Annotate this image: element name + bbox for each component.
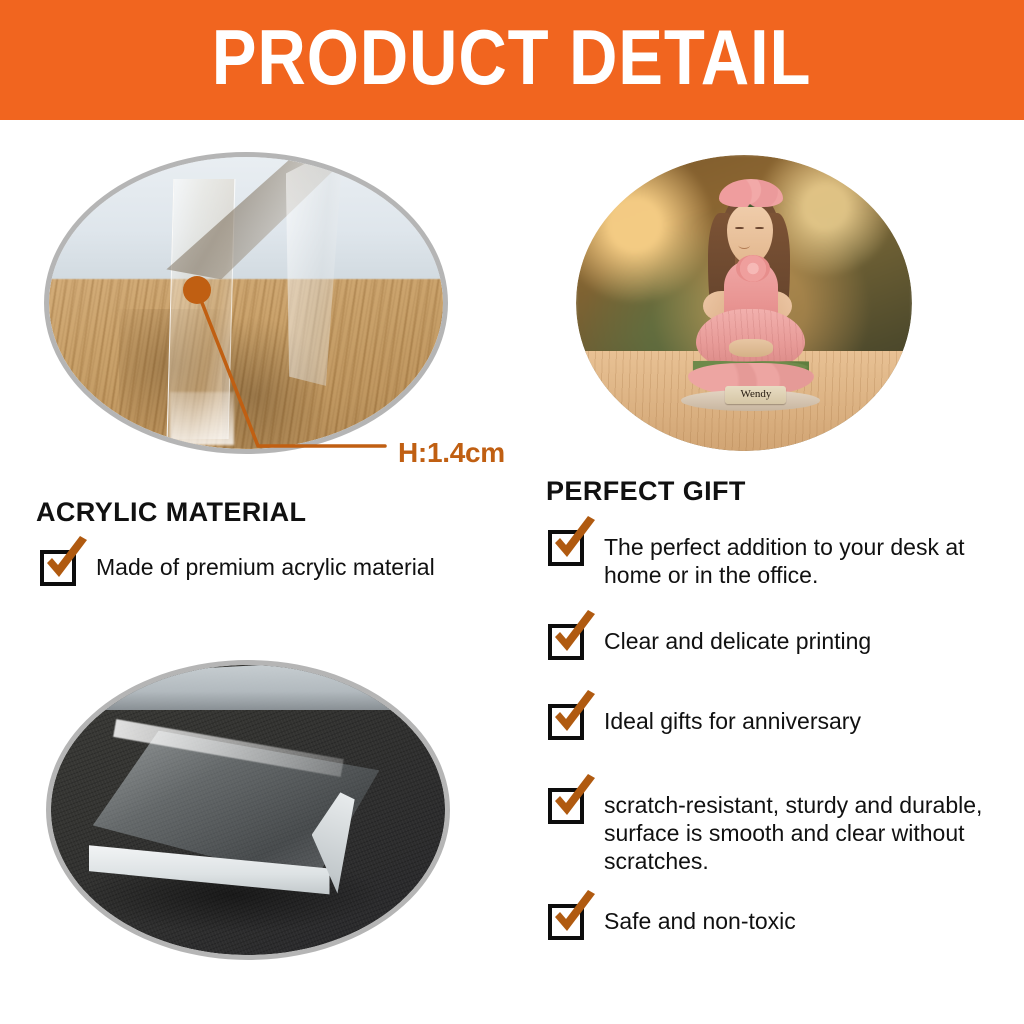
check-icon: [547, 690, 601, 744]
photo-figurine-inner: Wendy: [576, 155, 912, 451]
figurine-smile: [738, 242, 750, 250]
section-title-perfect-gift: PERFECT GIFT: [546, 476, 746, 507]
photo-figurine: Wendy: [576, 155, 912, 451]
checkbox-checked[interactable]: [548, 528, 588, 568]
figurine-nameplate: Wendy: [725, 386, 786, 405]
bullet-perfect-gift-1: The perfect addition to your desk at hom…: [548, 528, 998, 589]
checkbox-checked[interactable]: [548, 622, 588, 662]
check-icon: [547, 610, 601, 664]
bullet-text: Made of premium acrylic material: [80, 548, 435, 581]
section-title-acrylic-material: ACRYLIC MATERIAL: [36, 497, 306, 528]
bullet-perfect-gift-2: Clear and delicate printing: [548, 622, 998, 662]
measurement-label: H:1.4cm: [398, 437, 505, 469]
bullet-text: Safe and non-toxic: [588, 902, 796, 935]
bullet-text: scratch-resistant, sturdy and durable, s…: [588, 786, 1008, 875]
bullet-text: Ideal gifts for anniversary: [588, 702, 861, 735]
figurine-flower-crown: [719, 179, 784, 208]
bullet-text: The perfect addition to your desk at hom…: [588, 528, 998, 589]
figurine-scene: Wendy: [576, 155, 912, 451]
check-icon: [547, 774, 601, 828]
page-title: PRODUCT DETAIL: [212, 18, 812, 102]
bullet-acrylic-material-1: Made of premium acrylic material: [40, 548, 510, 588]
photo-acrylic-block: [46, 660, 450, 960]
product-detail-infographic: PRODUCT DETAIL: [0, 0, 1024, 1024]
photo-acrylic-edge: [44, 152, 448, 454]
bullet-text: Clear and delicate printing: [588, 622, 871, 655]
photo-acrylic-edge-inner: [49, 157, 443, 449]
photo-acrylic-block-inner: [51, 665, 445, 955]
bullet-perfect-gift-4: scratch-resistant, sturdy and durable, s…: [548, 786, 1008, 875]
header-banner: PRODUCT DETAIL: [0, 0, 1024, 120]
figurine-sculpture: Wendy: [576, 155, 912, 451]
acrylic-block-scene: [51, 665, 445, 955]
figurine-nameplate-text: Wendy: [740, 389, 771, 400]
check-icon: [39, 536, 93, 590]
checkbox-checked[interactable]: [548, 786, 588, 826]
bullet-perfect-gift-5: Safe and non-toxic: [548, 902, 998, 942]
check-icon: [547, 516, 601, 570]
bullet-perfect-gift-3: Ideal gifts for anniversary: [548, 702, 998, 742]
figurine-chest-flower: [736, 255, 770, 282]
checkbox-checked[interactable]: [548, 902, 588, 942]
acrylic-edge-scene: [49, 157, 443, 449]
check-icon: [547, 890, 601, 944]
figurine-crossed-legs: [729, 339, 773, 357]
acrylic-slab-base-highlight: [170, 392, 234, 445]
checkbox-checked[interactable]: [40, 548, 80, 588]
checkbox-checked[interactable]: [548, 702, 588, 742]
